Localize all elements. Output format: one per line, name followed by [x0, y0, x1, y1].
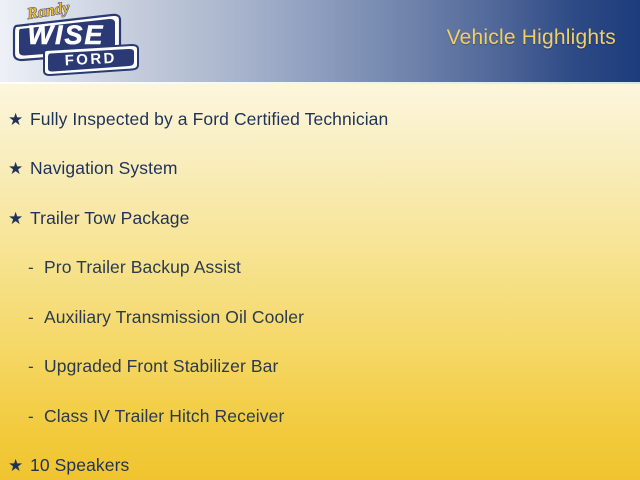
star-bullet-icon: ★ [8, 457, 30, 474]
dash-bullet-icon: - [28, 358, 40, 375]
highlight-label: Class IV Trailer Hitch Receiver [40, 406, 284, 427]
star-bullet-icon: ★ [8, 210, 30, 227]
header-bar: WISE Randy FORD Vehicle Highlights [0, 0, 640, 82]
highlight-label: Navigation System [30, 158, 178, 179]
highlight-item: ★Navigation System [0, 144, 640, 194]
highlight-subitem: -Class IV Trailer Hitch Receiver [0, 391, 640, 441]
highlights-list: ★Fully Inspected by a Ford Certified Tec… [0, 82, 640, 480]
highlight-label: Fully Inspected by a Ford Certified Tech… [30, 109, 388, 130]
dash-bullet-icon: - [28, 309, 40, 326]
highlight-label: Auxiliary Transmission Oil Cooler [40, 307, 304, 328]
page-title: Vehicle Highlights [447, 26, 616, 50]
highlight-item: ★Trailer Tow Package [0, 193, 640, 243]
dash-bullet-icon: - [28, 408, 40, 425]
star-bullet-icon: ★ [8, 160, 30, 177]
highlight-label: Trailer Tow Package [30, 208, 189, 229]
dealer-logo: WISE Randy FORD [8, 2, 140, 80]
vehicle-highlights-slide: WISE Randy FORD Vehicle Highlights ★Full… [0, 0, 640, 480]
highlight-label: Upgraded Front Stabilizer Bar [40, 356, 278, 377]
highlight-label: Pro Trailer Backup Assist [40, 257, 241, 278]
highlight-item: ★Fully Inspected by a Ford Certified Tec… [0, 94, 640, 144]
highlight-item: ★10 Speakers [0, 441, 640, 480]
logo-wise-text: WISE [27, 20, 104, 50]
dash-bullet-icon: - [28, 259, 40, 276]
star-bullet-icon: ★ [8, 111, 30, 128]
highlight-label: 10 Speakers [30, 455, 129, 476]
logo-ford-text: FORD [64, 50, 117, 70]
highlight-subitem: -Auxiliary Transmission Oil Cooler [0, 292, 640, 342]
highlight-subitem: -Pro Trailer Backup Assist [0, 243, 640, 293]
highlight-subitem: -Upgraded Front Stabilizer Bar [0, 342, 640, 392]
